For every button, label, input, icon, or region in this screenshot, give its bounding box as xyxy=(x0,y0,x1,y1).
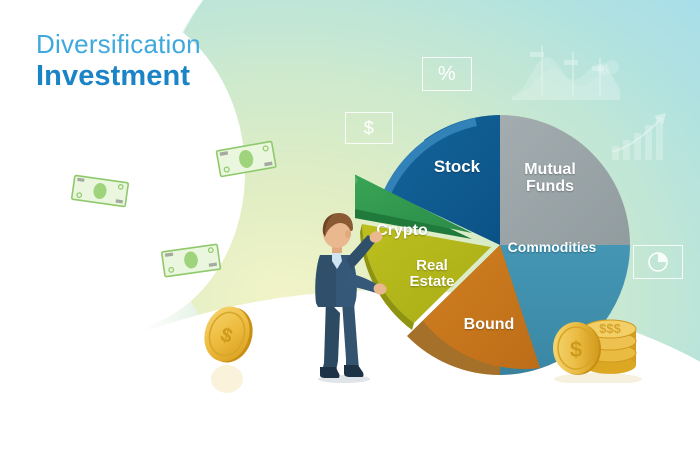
gold-coin-stack: $$$ $ xyxy=(548,305,644,383)
illustration-canvas: Diversification Investment % $ xyxy=(0,0,700,460)
dot-cluster-watermark xyxy=(596,58,622,76)
svg-text:$: $ xyxy=(570,337,582,362)
pie-chart-icon xyxy=(647,251,669,273)
percent-badge: % xyxy=(422,57,472,91)
banknote xyxy=(160,240,222,280)
title-line-investment: Investment xyxy=(36,60,201,92)
title-line-diversification: Diversification xyxy=(36,30,201,58)
page-title: Diversification Investment xyxy=(36,30,201,93)
svg-text:$$$: $$$ xyxy=(599,321,621,336)
gold-coin-single: $ xyxy=(200,303,266,393)
businessman-pushing-slice xyxy=(296,203,400,383)
banknote xyxy=(215,138,277,178)
pie-slice-mutual-funds[interactable] xyxy=(500,115,630,245)
banknote xyxy=(70,172,130,210)
percent-glyph: % xyxy=(438,63,456,86)
